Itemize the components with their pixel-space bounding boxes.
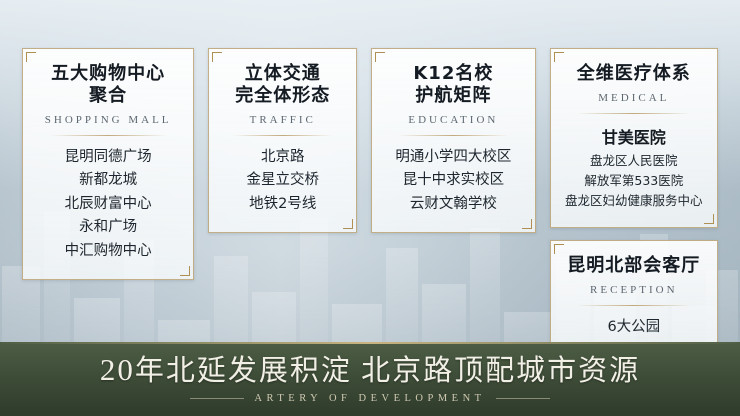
banner-dash-right <box>496 398 550 399</box>
card-subtitle: EDUCATION <box>382 114 524 126</box>
list-item: 北京路 <box>219 146 346 169</box>
card-title: K12名校 护航矩阵 <box>382 63 524 107</box>
list-item: 盘龙区妇幼健康服务中心 <box>561 191 707 211</box>
poster-background: 五大购物中心 聚合 SHOPPING MALL 昆明同德广场 新都龙城 北辰财富… <box>0 0 740 416</box>
card-title-line: K12名校 <box>382 63 524 85</box>
card-item-list: 明通小学四大校区 昆十中求实校区 云财文翰学校 <box>382 146 524 216</box>
divider <box>233 135 332 136</box>
list-item: 盘龙区人民医院 <box>561 151 707 171</box>
card-highlight: 甘美医院 <box>561 124 707 148</box>
card-medical[interactable]: 全维医疗体系 MEDICAL 甘美医院 盘龙区人民医院 解放军第533医院 盘龙… <box>550 48 718 228</box>
list-item: 地铁2号线 <box>219 193 346 216</box>
list-item: 新都龙城 <box>33 169 183 192</box>
bottom-banner: 20年北延发展积淀 北京路顶配城市资源 ARTERY OF DEVELOPMEN… <box>0 342 740 416</box>
card-title-line: 完全体形态 <box>219 85 346 107</box>
list-item: 昆十中求实校区 <box>382 169 524 192</box>
card-item-list: 6大公园 <box>561 316 707 339</box>
list-item: 6大公园 <box>561 316 707 339</box>
divider <box>577 305 691 306</box>
card-column-2: 立体交通 完全体形态 TRAFFIC 北京路 金星立交桥 地铁2号线 <box>208 48 357 233</box>
card-education[interactable]: K12名校 护航矩阵 EDUCATION 明通小学四大校区 昆十中求实校区 云财… <box>371 48 535 233</box>
banner-main-text: 年北延发展积淀 北京路顶配城市资源 <box>135 355 640 387</box>
card-subtitle: MEDICAL <box>561 92 707 104</box>
banner-number: 20 <box>100 352 135 387</box>
divider <box>577 113 691 114</box>
list-item: 昆明同德广场 <box>33 146 183 169</box>
list-item: 北辰财富中心 <box>33 193 183 216</box>
banner-sub-text: ARTERY OF DEVELOPMENT <box>254 393 485 404</box>
card-title-line: 聚合 <box>33 85 183 107</box>
banner-headline: 20年北延发展积淀 北京路顶配城市资源 <box>100 354 640 386</box>
list-item: 解放军第533医院 <box>561 171 707 191</box>
banner-subline: ARTERY OF DEVELOPMENT <box>190 393 549 404</box>
list-item: 云财文翰学校 <box>382 193 524 216</box>
card-item-list: 昆明同德广场 新都龙城 北辰财富中心 永和广场 中汇购物中心 <box>33 146 183 263</box>
card-item-list: 北京路 金星立交桥 地铁2号线 <box>219 146 346 216</box>
card-title: 五大购物中心 聚合 <box>33 63 183 107</box>
card-item-list: 盘龙区人民医院 解放军第533医院 盘龙区妇幼健康服务中心 <box>561 151 707 211</box>
card-subtitle: TRAFFIC <box>219 114 346 126</box>
card-subtitle: SHOPPING MALL <box>33 114 183 126</box>
divider <box>398 135 509 136</box>
card-subtitle: RECEPTION <box>561 284 707 296</box>
banner-gold-line <box>0 342 740 344</box>
card-title: 全维医疗体系 <box>561 63 707 85</box>
list-item: 中汇购物中心 <box>33 240 183 263</box>
card-title: 昆明北部会客厅 <box>561 255 707 277</box>
card-column-4: 全维医疗体系 MEDICAL 甘美医院 盘龙区人民医院 解放军第533医院 盘龙… <box>550 48 718 356</box>
card-title: 立体交通 完全体形态 <box>219 63 346 107</box>
list-item: 金星立交桥 <box>219 169 346 192</box>
divider <box>50 135 167 136</box>
card-title-line: 五大购物中心 <box>33 63 183 85</box>
card-column-3: K12名校 护航矩阵 EDUCATION 明通小学四大校区 昆十中求实校区 云财… <box>371 48 535 233</box>
card-column-1: 五大购物中心 聚合 SHOPPING MALL 昆明同德广场 新都龙城 北辰财富… <box>22 48 194 280</box>
list-item: 永和广场 <box>33 216 183 239</box>
banner-dash-left <box>190 398 244 399</box>
card-title-line: 护航矩阵 <box>382 85 524 107</box>
info-cards-row: 五大购物中心 聚合 SHOPPING MALL 昆明同德广场 新都龙城 北辰财富… <box>22 48 718 356</box>
card-title-line: 全维医疗体系 <box>561 63 707 85</box>
card-title-line: 昆明北部会客厅 <box>561 255 707 277</box>
list-item: 明通小学四大校区 <box>382 146 524 169</box>
card-traffic[interactable]: 立体交通 完全体形态 TRAFFIC 北京路 金星立交桥 地铁2号线 <box>208 48 357 233</box>
card-reception[interactable]: 昆明北部会客厅 RECEPTION 6大公园 <box>550 240 718 356</box>
card-shopping-mall[interactable]: 五大购物中心 聚合 SHOPPING MALL 昆明同德广场 新都龙城 北辰财富… <box>22 48 194 280</box>
card-title-line: 立体交通 <box>219 63 346 85</box>
